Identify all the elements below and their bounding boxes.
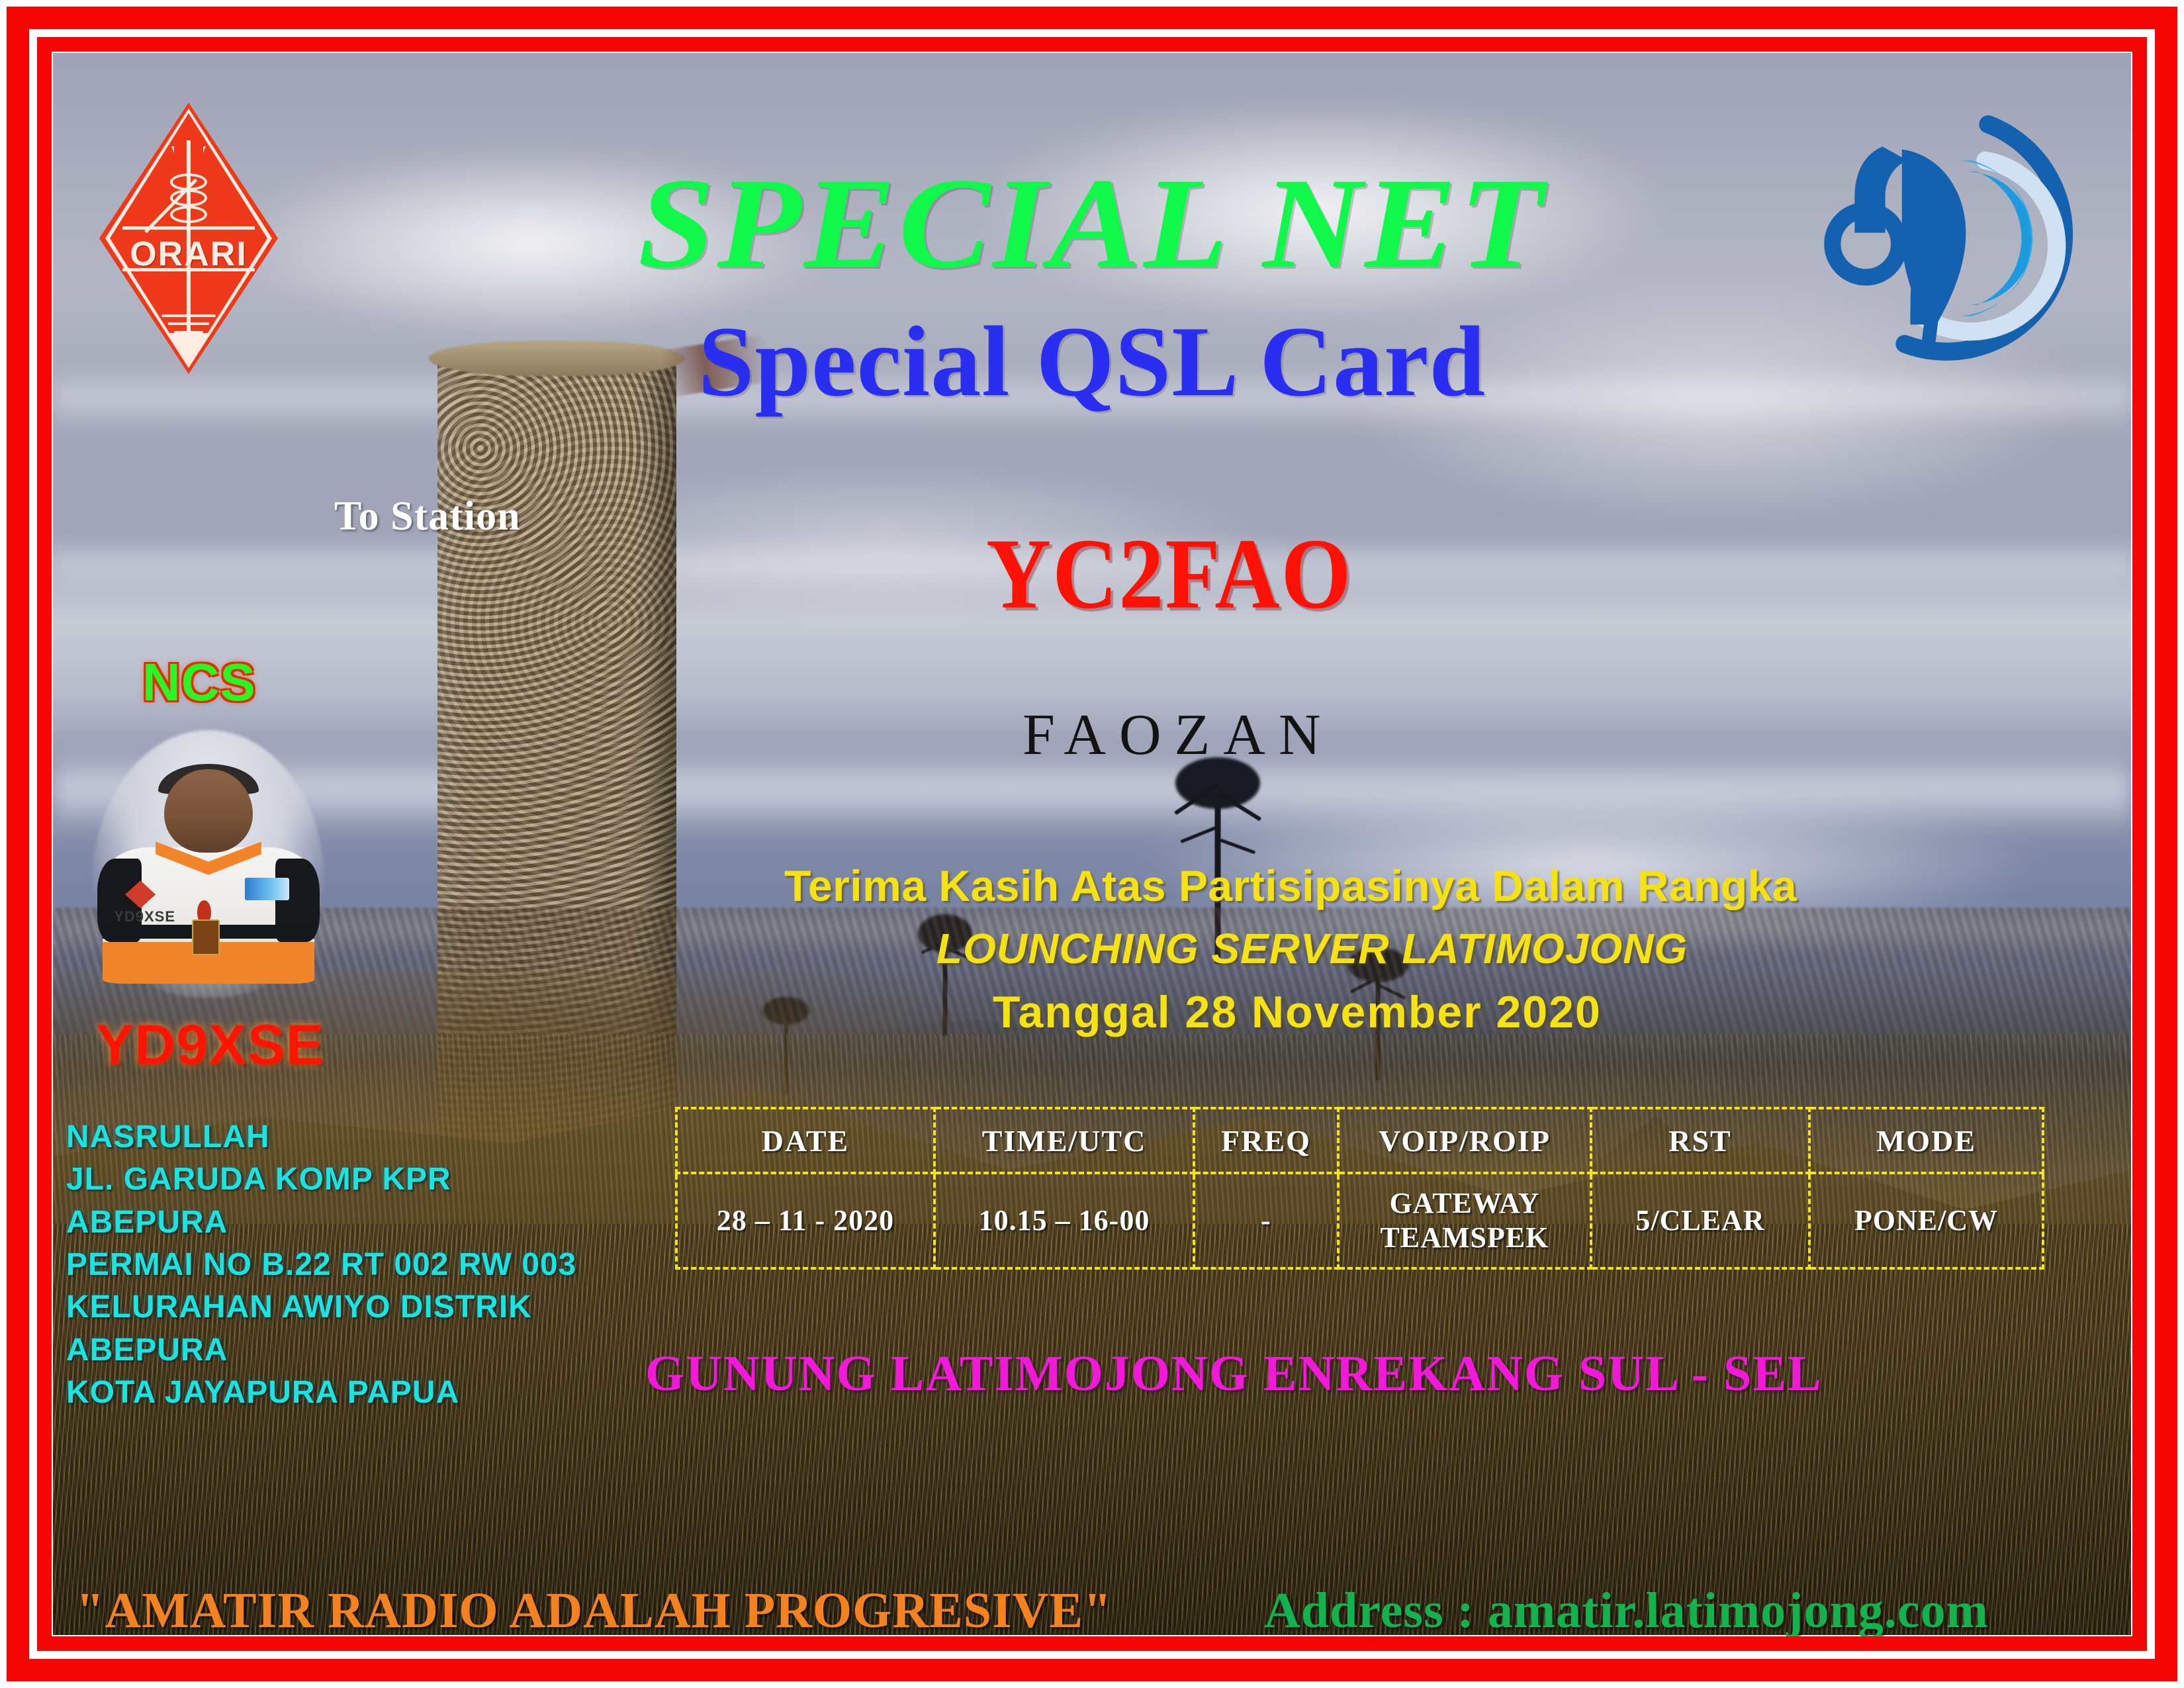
inner-red-frame <box>37 37 2147 1651</box>
qsl-card: ORARI SPECIAL NET Special QSL Card To St… <box>0 0 2184 1688</box>
